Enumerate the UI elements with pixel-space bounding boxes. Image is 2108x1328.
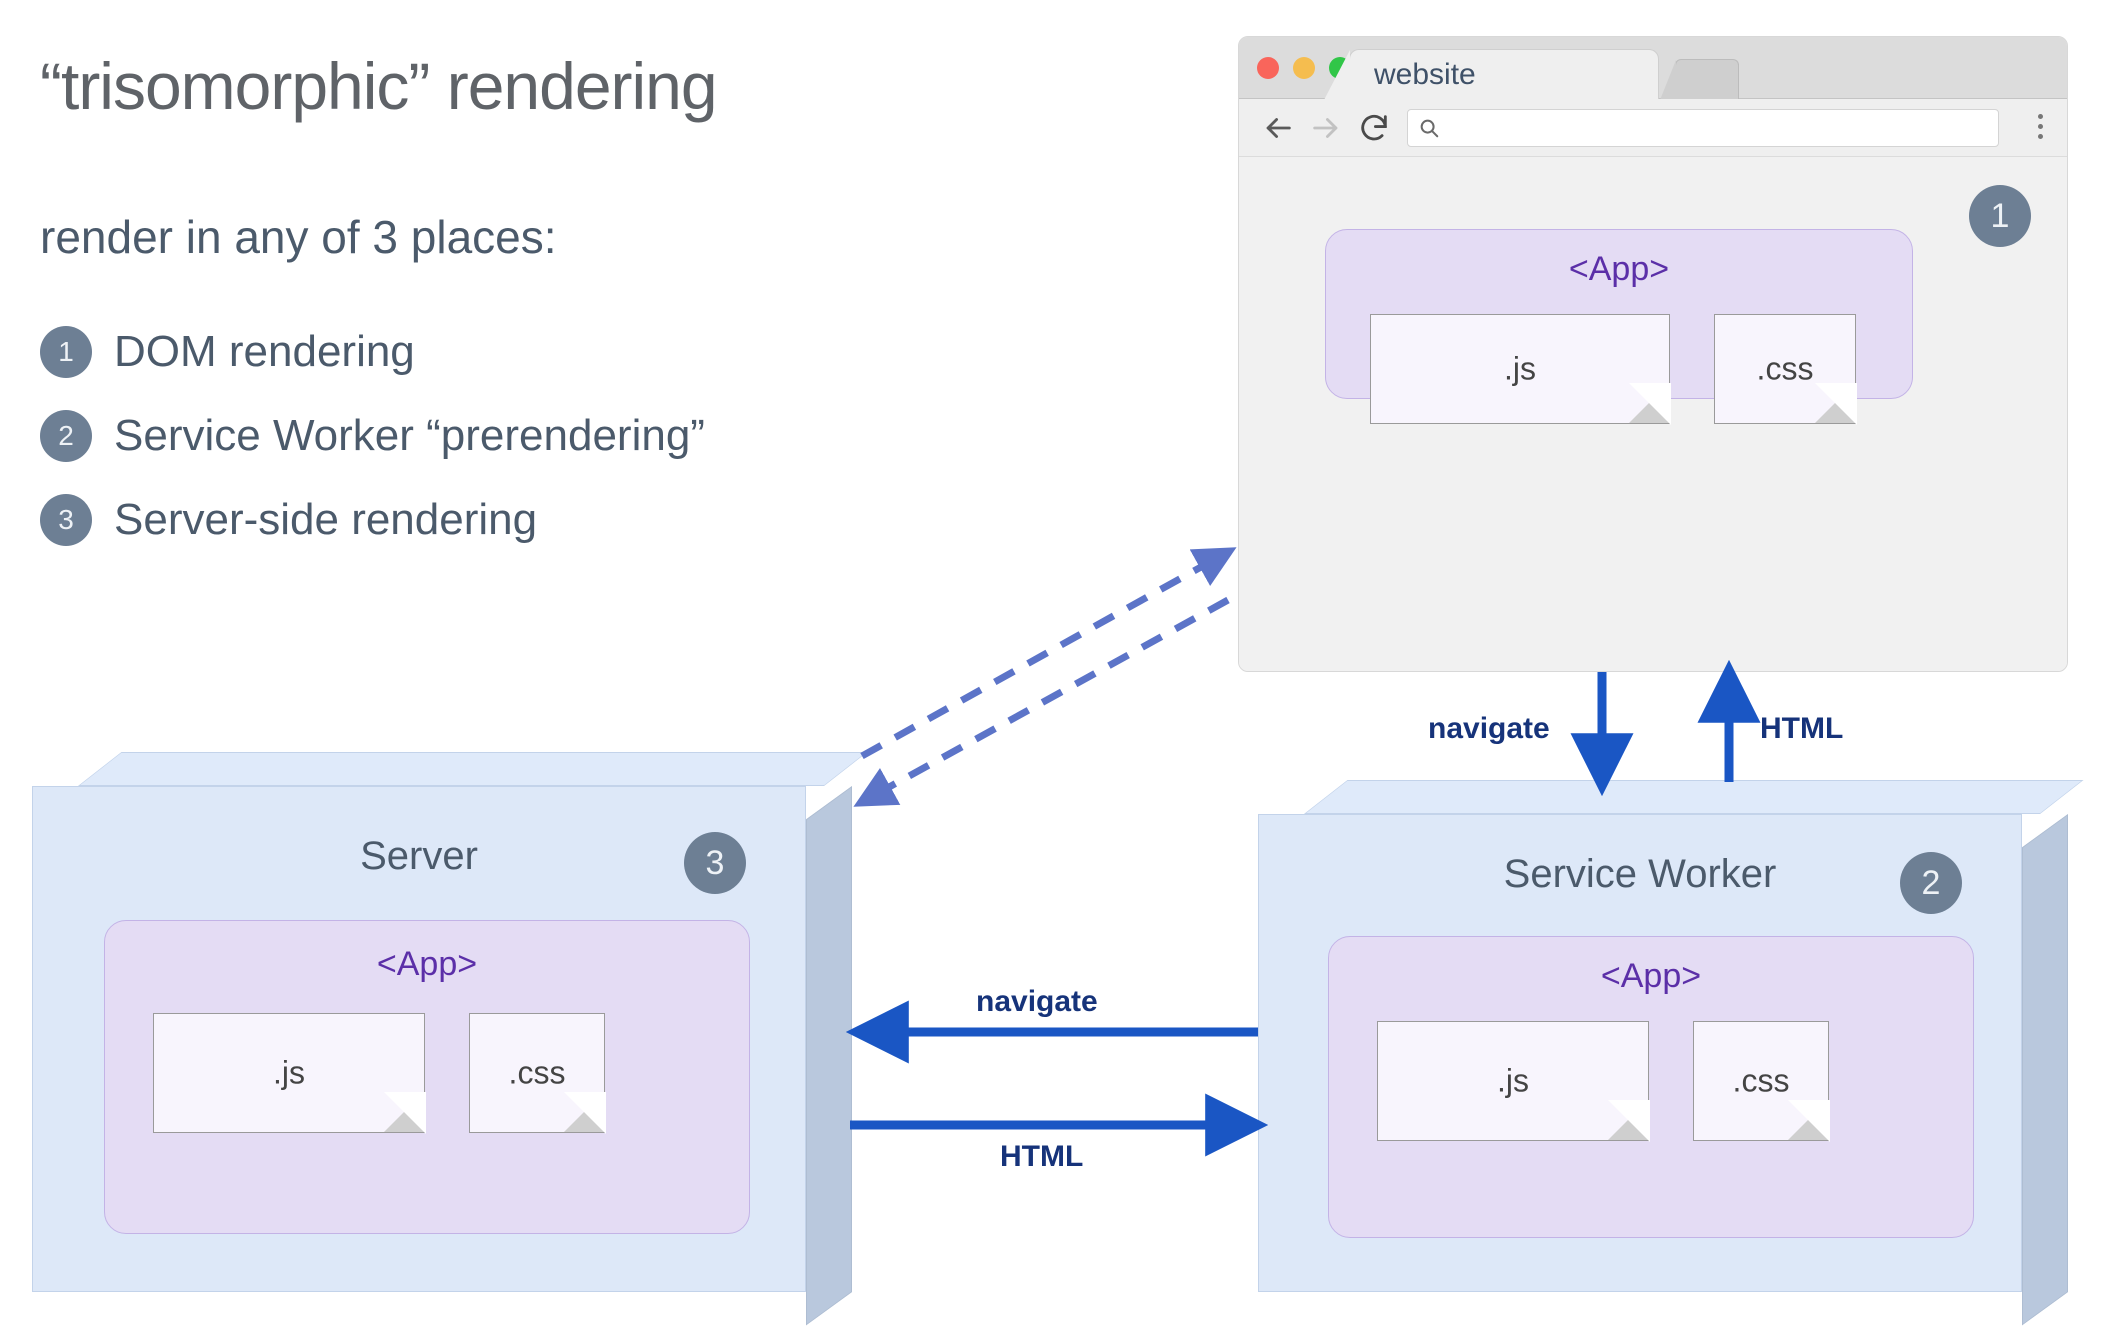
css-file-label: .css [470, 1055, 604, 1092]
label-html-up: HTML [1760, 712, 1843, 746]
list-item: 1 DOM rendering [40, 310, 705, 394]
app-title: <App> [105, 945, 749, 984]
reload-icon[interactable] [1357, 111, 1391, 145]
kebab-menu-icon[interactable] [2038, 114, 2043, 139]
page-fold-cut [1788, 1100, 1830, 1142]
js-file-label: .js [1371, 351, 1669, 388]
css-file-label: .css [1715, 351, 1855, 388]
close-window-dot[interactable] [1257, 57, 1279, 79]
list-item: 3 Server-side rendering [40, 478, 705, 562]
service-worker-box: Service Worker 2 <App> .js .css [1258, 780, 2068, 1292]
list-number-badge: 1 [40, 326, 92, 378]
browser-window: website [1238, 36, 2068, 672]
page-fold-cut [384, 1092, 426, 1134]
js-file-label: .js [1378, 1063, 1648, 1100]
service-worker-step-badge: 2 [1900, 852, 1962, 914]
list-item-label: Server-side rendering [114, 495, 537, 545]
app-title: <App> [1326, 250, 1912, 289]
arrow-dashed-to-browser [862, 552, 1228, 756]
forward-arrow-icon [1309, 111, 1343, 145]
page-fold-cut [564, 1092, 606, 1134]
list-item-label: Service Worker “prerendering” [114, 411, 705, 461]
list-item-label: DOM rendering [114, 327, 415, 377]
list-number-badge: 3 [40, 494, 92, 546]
css-file-label: .css [1694, 1063, 1828, 1100]
server-app-box: <App> .js .css [104, 920, 750, 1234]
browser-app-box: <App> .js .css [1325, 229, 1913, 399]
page-title: “trisomorphic” rendering [40, 52, 717, 121]
diagram-canvas: “trisomorphic” rendering render in any o… [0, 0, 2108, 1328]
list-item: 2 Service Worker “prerendering” [40, 394, 705, 478]
browser-viewport: 1 <App> .js .css [1239, 157, 2067, 671]
server-box: Server 3 <App> .js .css [32, 752, 852, 1292]
browser-toolbar [1239, 99, 2067, 157]
browser-tab-website[interactable]: website [1349, 49, 1659, 99]
arrow-dashed-to-server [862, 600, 1228, 802]
page-fold-cut [1629, 383, 1671, 425]
search-icon [1418, 117, 1440, 139]
browser-tabstrip: website [1239, 37, 2067, 99]
render-places-list: 1 DOM rendering 2 Service Worker “preren… [40, 310, 705, 562]
browser-tab-label: website [1374, 58, 1476, 92]
label-html-right: HTML [1000, 1140, 1083, 1174]
list-number-badge: 2 [40, 410, 92, 462]
label-navigate-down: navigate [1428, 712, 1550, 746]
page-fold-cut [1608, 1100, 1650, 1142]
service-worker-app-box: <App> .js .css [1328, 936, 1974, 1238]
url-bar[interactable] [1407, 109, 1999, 147]
label-navigate-left: navigate [976, 985, 1098, 1019]
minimize-window-dot[interactable] [1293, 57, 1315, 79]
css-file-doc: .css [1714, 314, 1856, 424]
server-step-badge: 3 [684, 832, 746, 894]
css-file-doc: .css [469, 1013, 605, 1133]
js-file-label: .js [154, 1055, 424, 1092]
browser-tab-empty[interactable] [1675, 59, 1739, 99]
app-title: <App> [1329, 957, 1973, 996]
page-fold-cut [1815, 383, 1857, 425]
js-file-doc: .js [1377, 1021, 1649, 1141]
page-subtitle: render in any of 3 places: [40, 210, 557, 264]
js-file-doc: .js [1370, 314, 1670, 424]
browser-step-badge: 1 [1969, 185, 2031, 247]
js-file-doc: .js [153, 1013, 425, 1133]
css-file-doc: .css [1693, 1021, 1829, 1141]
back-arrow-icon[interactable] [1261, 111, 1295, 145]
